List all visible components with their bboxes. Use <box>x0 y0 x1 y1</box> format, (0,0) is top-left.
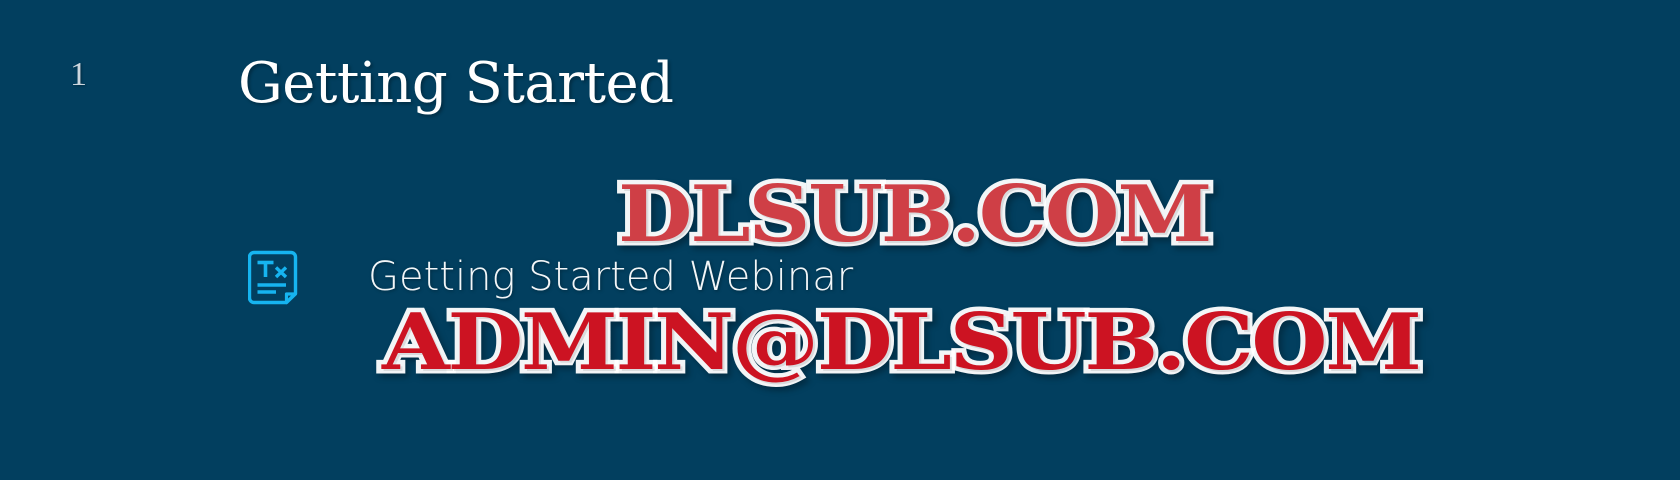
lesson-row[interactable]: Getting Started Webinar <box>0 238 1680 328</box>
lesson-title[interactable]: Getting Started Webinar <box>368 253 853 301</box>
document-text-icon <box>248 247 306 311</box>
section-header-row: 1 Getting Started <box>0 24 1680 114</box>
section-number: 1 <box>70 58 130 92</box>
section-title: Getting Started <box>238 52 674 116</box>
course-outline-page: 1 Getting Started Getting Started Webina… <box>0 0 1680 480</box>
